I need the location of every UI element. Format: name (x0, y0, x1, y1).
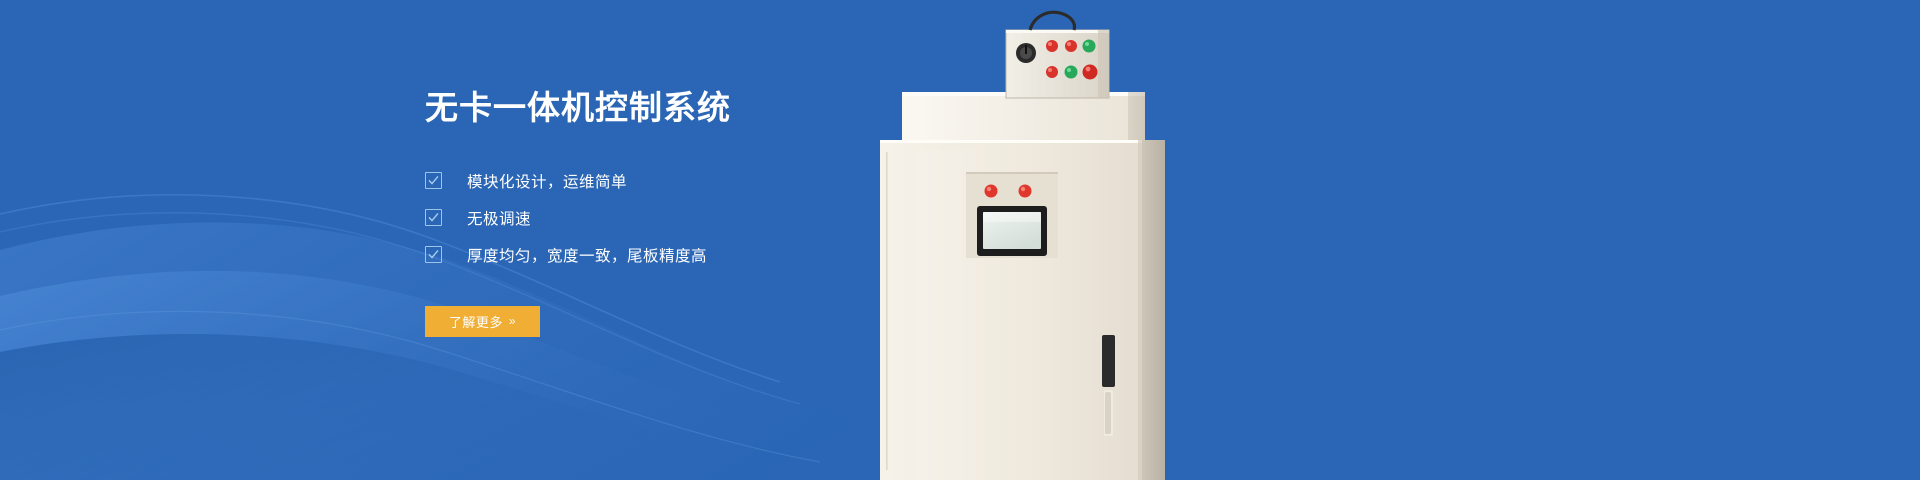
indicator-red-2 (1065, 40, 1077, 52)
indicator-red-1 (1046, 40, 1058, 52)
hmi-light-red-1 (985, 185, 998, 198)
feature-item-3: 厚度均匀，宽度一致，尾板精度高 (425, 244, 985, 266)
indicator-red-4 (1083, 65, 1098, 80)
learn-more-label: 了解更多 (449, 312, 503, 331)
feature-item-3-label: 厚度均匀，宽度一致，尾板精度高 (467, 244, 707, 266)
indicator-green-2 (1065, 66, 1078, 79)
chevron-right-icon: » (509, 314, 516, 328)
indicator-red-3 (1046, 66, 1058, 78)
feature-item-2-label: 无极调速 (467, 207, 531, 229)
indicator-green-1 (1083, 40, 1096, 53)
hero-copy: 无卡一体机控制系统 模块化设计，运维简单 无极调速 (425, 88, 985, 337)
learn-more-button[interactable]: 了解更多 » (425, 306, 540, 337)
page-title: 无卡一体机控制系统 (425, 88, 985, 128)
checkbox-checked-icon (425, 209, 442, 226)
feature-item-1-label: 模块化设计，运维简单 (467, 170, 627, 192)
power-cable (1030, 12, 1074, 30)
feature-item-2: 无极调速 (425, 207, 985, 229)
hero-banner: 无卡一体机控制系统 模块化设计，运维简单 无极调速 (0, 0, 1920, 480)
control-button-box (1006, 12, 1109, 98)
feature-item-1: 模块化设计，运维简单 (425, 170, 985, 192)
hmi-light-red-2 (1019, 185, 1032, 198)
checkbox-checked-icon (425, 172, 442, 189)
feature-list: 模块化设计，运维简单 无极调速 厚度均匀，宽度一致，尾板精度高 (425, 170, 985, 266)
checkbox-checked-icon (425, 246, 442, 263)
